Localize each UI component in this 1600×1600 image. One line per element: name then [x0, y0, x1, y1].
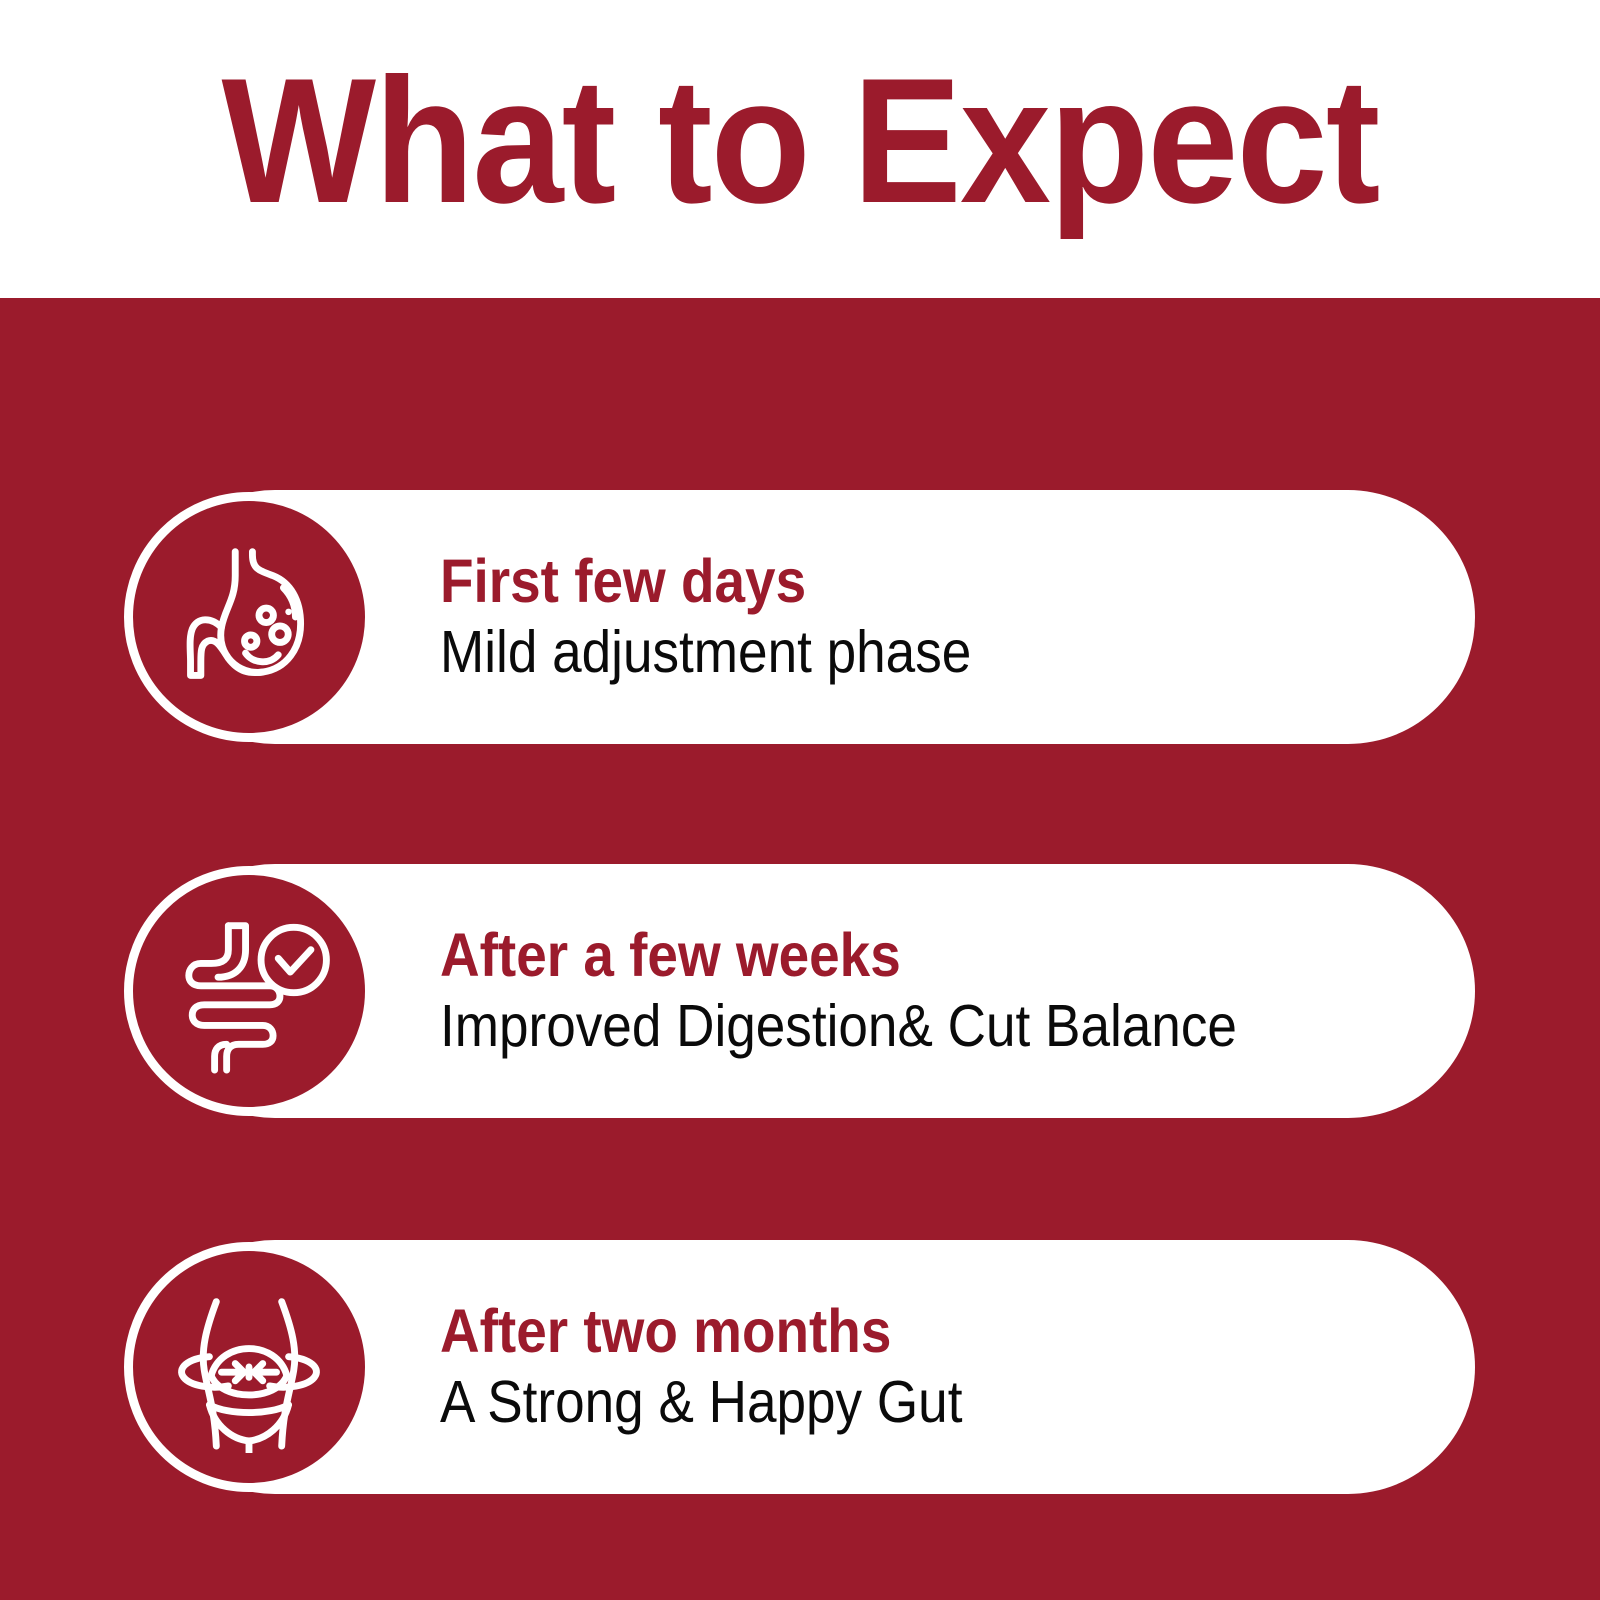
intestine-check-icon — [124, 866, 374, 1116]
card-subtext: A Strong & Happy Gut — [440, 1370, 1318, 1435]
card-heading: After a few weeks — [440, 923, 1318, 988]
intestine-check-icon-glyph — [163, 905, 335, 1077]
card-text-block: First few days Mild adjustment phase — [440, 490, 1415, 744]
card-subtext: Improved Digestion& Cut Balance — [440, 994, 1318, 1059]
page-title: What to Expect — [64, 52, 1536, 230]
infographic-page: What to Expect First few days Mild adjus… — [0, 0, 1600, 1600]
slim-waist-icon-glyph — [163, 1281, 335, 1453]
card-heading: First few days — [440, 549, 1318, 614]
slim-waist-icon — [124, 1242, 374, 1492]
card-text-block: After two months A Strong & Happy Gut — [440, 1240, 1415, 1494]
stomach-icon — [124, 492, 374, 742]
expectation-card[interactable]: After a few weeks Improved Digestion& Cu… — [148, 864, 1475, 1118]
header-band: What to Expect — [0, 0, 1600, 298]
card-heading: After two months — [440, 1299, 1318, 1364]
card-text-block: After a few weeks Improved Digestion& Cu… — [440, 864, 1415, 1118]
stomach-icon-glyph — [163, 531, 335, 703]
card-subtext: Mild adjustment phase — [440, 620, 1318, 685]
expectation-card[interactable]: First few days Mild adjustment phase — [148, 490, 1475, 744]
expectation-card[interactable]: After two months A Strong & Happy Gut — [148, 1240, 1475, 1494]
